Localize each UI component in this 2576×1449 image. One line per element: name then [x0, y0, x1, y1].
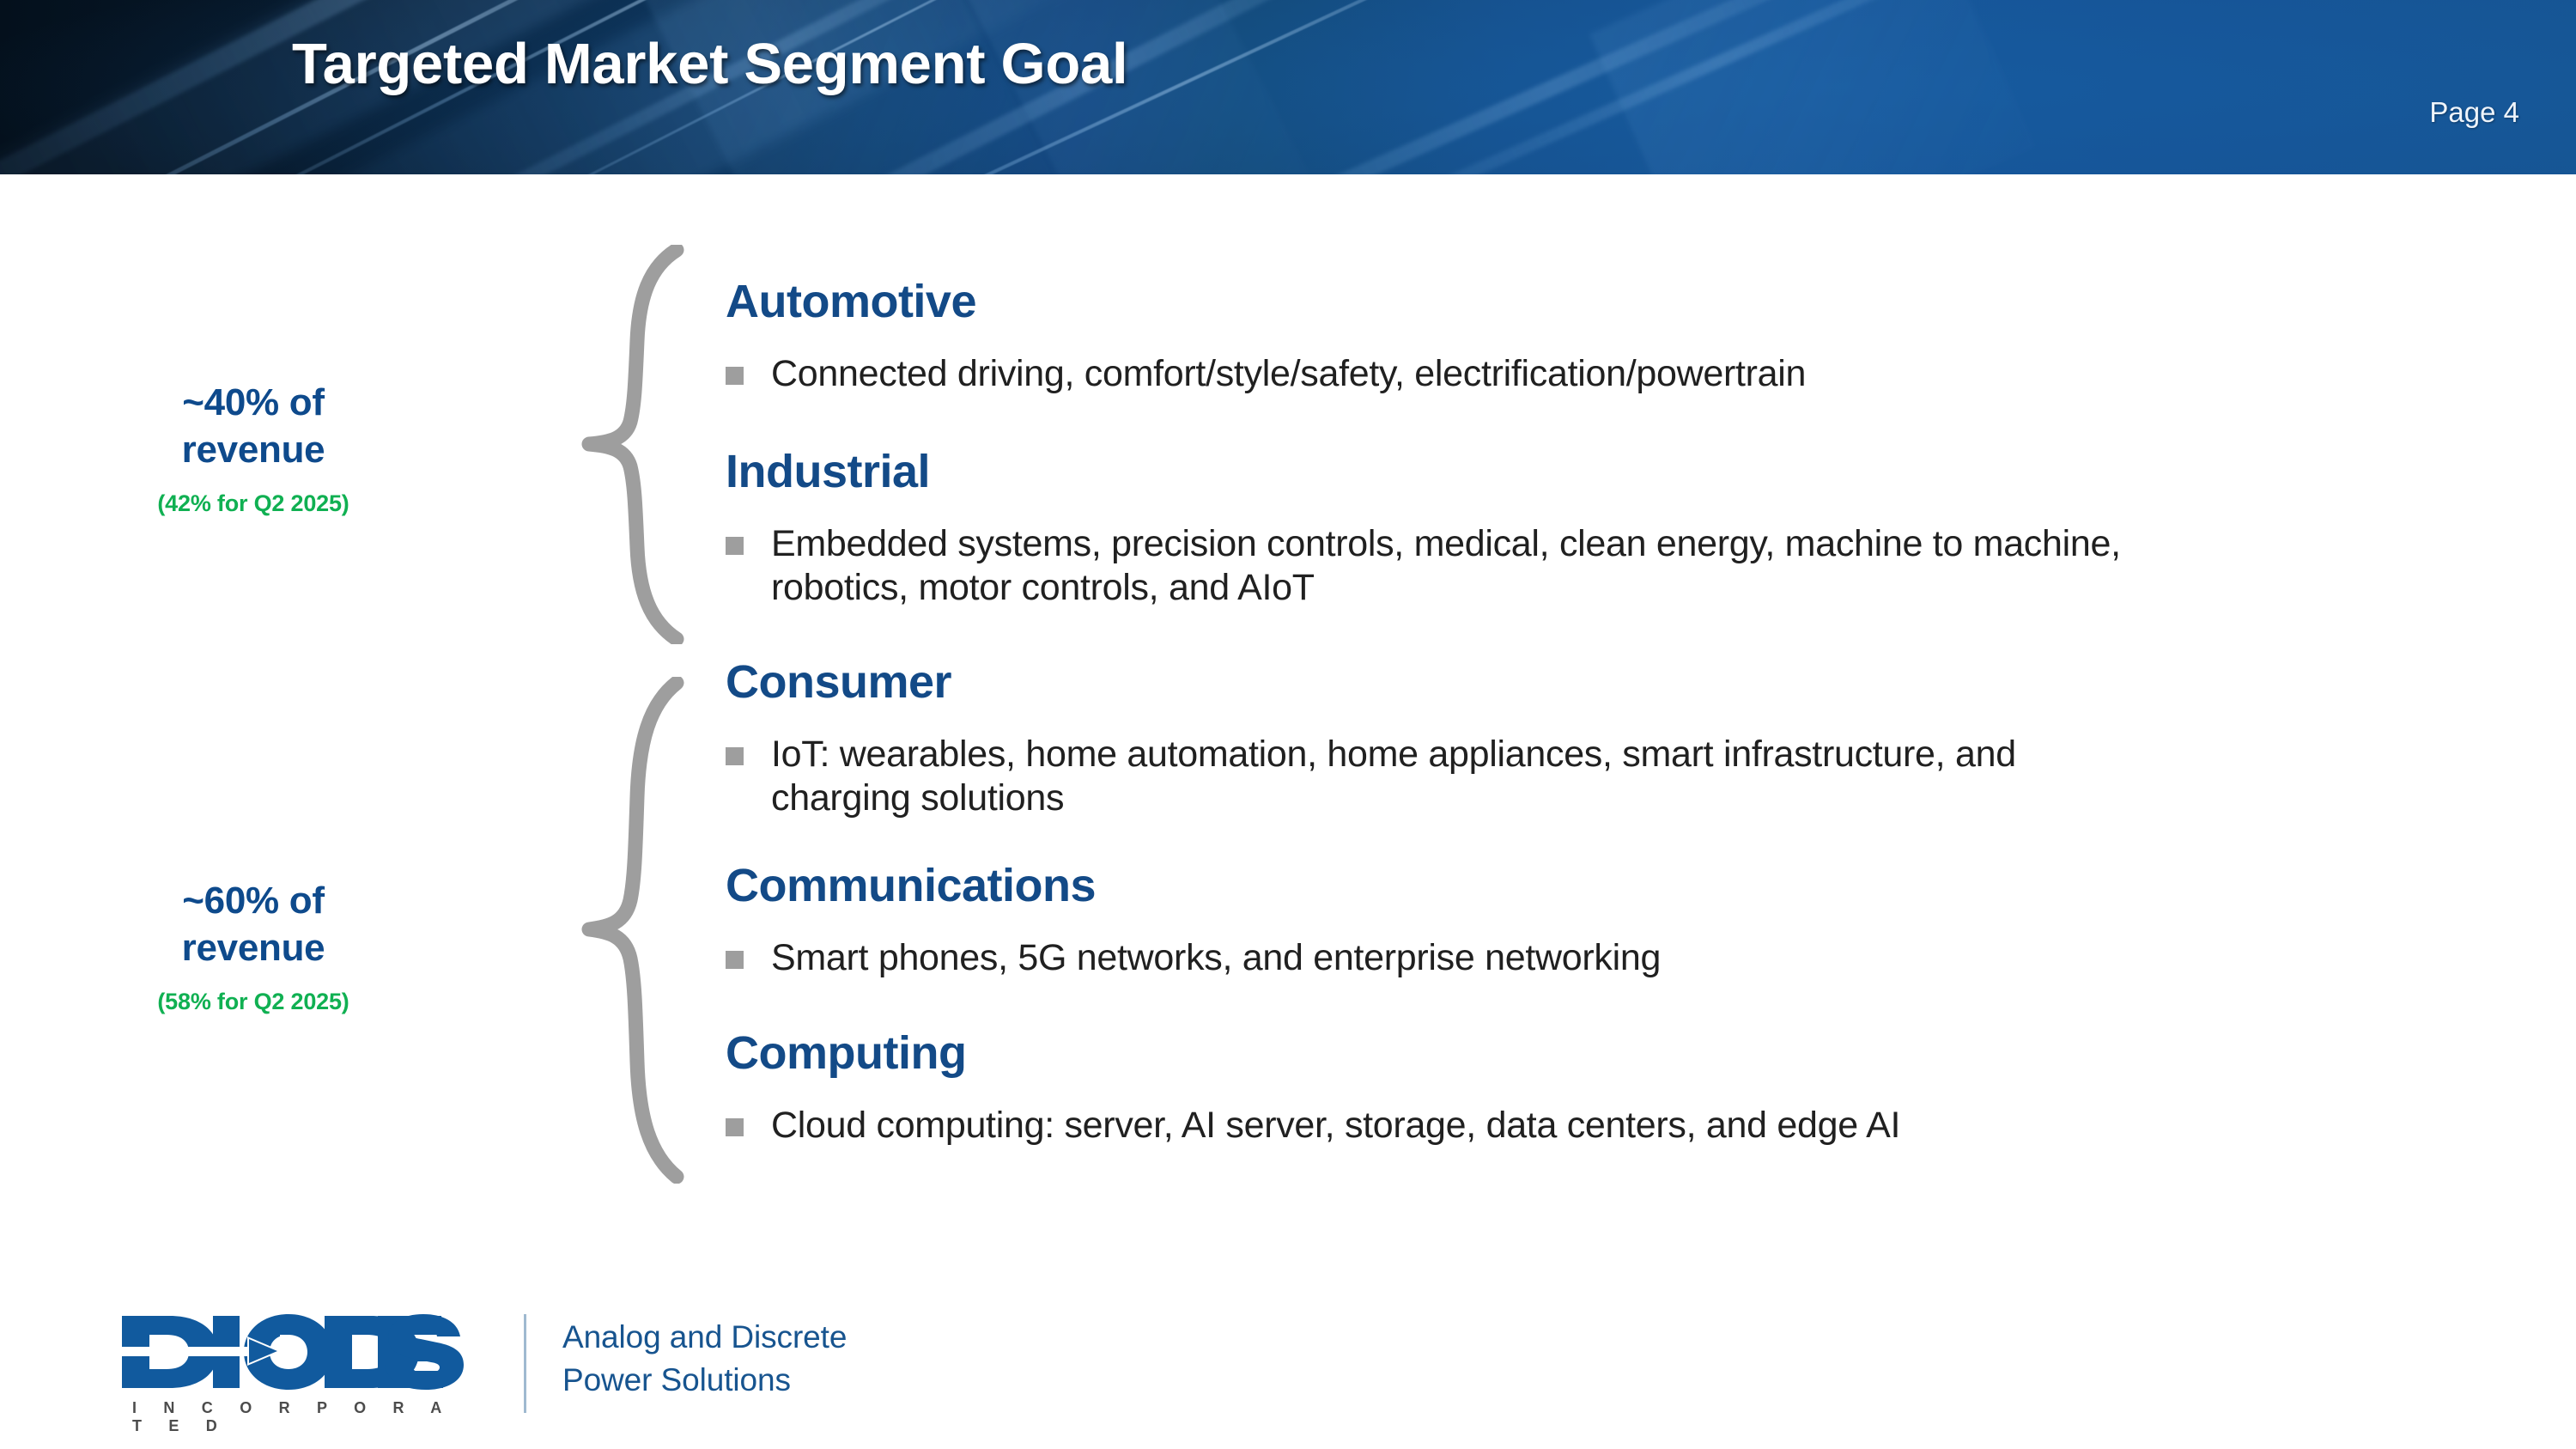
square-bullet-icon — [726, 1118, 744, 1136]
segment-bullet-automotive: Connected driving, comfort/style/safety,… — [726, 352, 2494, 396]
segment-heading-industrial: Industrial — [726, 445, 930, 498]
revenue-percent-label: ~40% of revenue — [69, 380, 438, 473]
tagline-line-1: Analog and Discrete — [562, 1316, 847, 1359]
segment-bullet-computing: Cloud computing: server, AI server, stor… — [726, 1104, 2494, 1148]
company-tagline: Analog and Discrete Power Solutions — [562, 1312, 847, 1402]
footer-divider — [524, 1314, 526, 1413]
segment-bullet-industrial: Embedded systems, precision controls, me… — [726, 522, 2202, 610]
revenue-percent-line-1: ~40% of — [69, 380, 438, 427]
curly-brace-group-1 — [567, 245, 696, 644]
segment-heading-communications: Communications — [726, 859, 1096, 912]
revenue-label-group-1: ~40% of revenue (42% for Q2 2025) — [69, 380, 438, 517]
page-title: Targeted Market Segment Goal — [292, 31, 1127, 97]
segment-bullet-text: IoT: wearables, home automation, home ap… — [771, 733, 2160, 820]
segment-bullet-text: Connected driving, comfort/style/safety,… — [771, 352, 1806, 396]
header-panel-decor — [1589, 0, 2034, 174]
segment-bullet-text: Cloud computing: server, AI server, stor… — [771, 1104, 1900, 1148]
segment-heading-consumer: Consumer — [726, 655, 951, 709]
tagline-line-2: Power Solutions — [562, 1359, 847, 1402]
diodes-wordmark-icon — [120, 1312, 464, 1391]
revenue-percent-label: ~60% of revenue — [69, 878, 438, 971]
curly-brace-group-2 — [567, 677, 696, 1184]
segment-bullet-communications: Smart phones, 5G networks, and enterpris… — [726, 936, 2494, 980]
page-number-label: Page 4 — [2429, 96, 2519, 129]
segment-heading-computing: Computing — [726, 1026, 966, 1080]
footer-branding: I N C O R P O R A T E D Analog and Discr… — [120, 1312, 847, 1435]
slide-header-banner: Targeted Market Segment Goal Page 4 — [0, 0, 2576, 174]
revenue-percent-line-2: revenue — [69, 925, 438, 972]
square-bullet-icon — [726, 951, 744, 969]
revenue-quarter-note: (42% for Q2 2025) — [69, 490, 438, 517]
revenue-percent-line-1: ~60% of — [69, 878, 438, 925]
square-bullet-icon — [726, 537, 744, 555]
square-bullet-icon — [726, 367, 744, 385]
segment-heading-automotive: Automotive — [726, 275, 976, 328]
revenue-percent-line-2: revenue — [69, 427, 438, 474]
square-bullet-icon — [726, 747, 744, 765]
revenue-quarter-note: (58% for Q2 2025) — [69, 989, 438, 1015]
segment-bullet-text: Embedded systems, precision controls, me… — [771, 522, 2202, 610]
logo-incorporated-text: I N C O R P O R A T E D — [132, 1399, 481, 1435]
segment-bullet-consumer: IoT: wearables, home automation, home ap… — [726, 733, 2160, 820]
diodes-logo: I N C O R P O R A T E D — [120, 1312, 481, 1435]
segment-bullet-text: Smart phones, 5G networks, and enterpris… — [771, 936, 1661, 980]
revenue-label-group-2: ~60% of revenue (58% for Q2 2025) — [69, 878, 438, 1015]
